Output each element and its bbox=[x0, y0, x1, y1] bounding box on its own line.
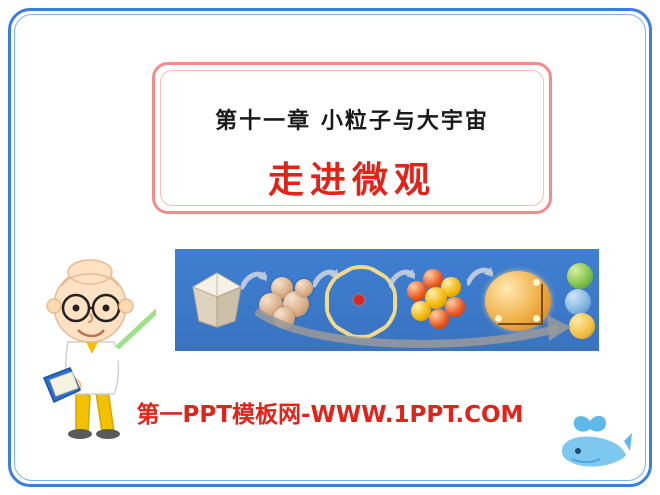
page-title: 走进微观 bbox=[155, 151, 549, 203]
title-box: 第十一章 小粒子与大宇宙 走进微观 bbox=[152, 62, 552, 214]
slide: 第十一章 小粒子与大宇宙 走进微观 bbox=[0, 0, 660, 495]
arrow-icon-4 bbox=[467, 265, 493, 287]
crystal-solid-icon bbox=[191, 271, 243, 329]
chapter-subtitle: 第十一章 小粒子与大宇宙 bbox=[155, 103, 549, 135]
watermark-text: 第一PPT模板网-WWW.1PPT.COM bbox=[0, 395, 660, 429]
flow-arrow-icon bbox=[255, 303, 575, 349]
illustration-band bbox=[175, 249, 599, 351]
